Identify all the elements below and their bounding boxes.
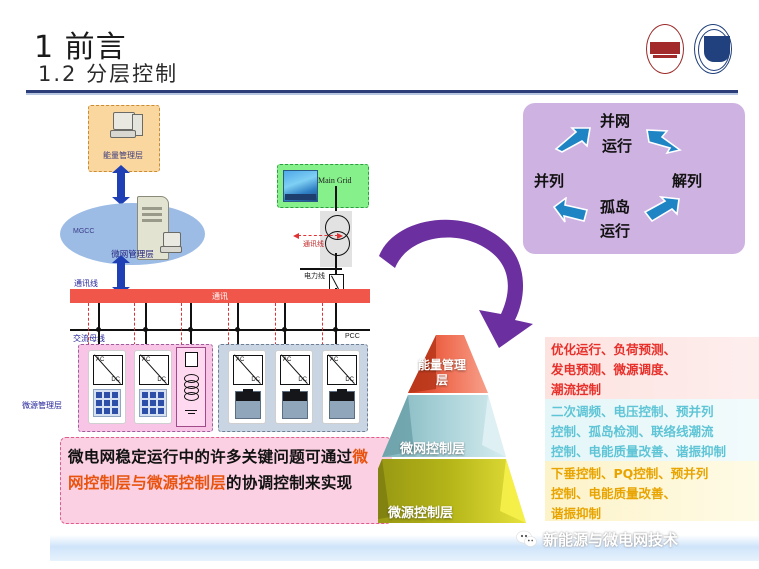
- comm-bus-label: 通讯线: [74, 278, 98, 289]
- bidirectional-arrow-icon-2: [117, 262, 125, 288]
- solar-panel-icon: [139, 389, 167, 417]
- flow-arrow-icon: [375, 210, 555, 350]
- pyramid-level-1-details: 优化运行、负荷预测、 发电预测、微源调度、 潮流控制: [545, 337, 759, 399]
- cycle-island-line2: 运行: [600, 220, 630, 241]
- page-subtitle: 1.2 分层控制: [38, 58, 178, 88]
- converter-dc-label: DC: [157, 377, 166, 383]
- pcc-label: PCC: [345, 333, 360, 340]
- converter-ac-label: AC: [330, 357, 338, 363]
- converter-ac-label: AC: [283, 357, 291, 363]
- acdc-converter-icon: AC DC: [93, 355, 123, 385]
- inductor-icon: [184, 374, 197, 400]
- battery-icon: [329, 391, 355, 419]
- ac-bus-line: [70, 329, 370, 331]
- slide-canvas: 1 前言 1.2 分层控制 能量管理层 MGCC 微网管理层 Main Grid: [0, 0, 759, 569]
- converter-dc-label: DC: [251, 377, 260, 383]
- converter-dc-label: DC: [345, 377, 354, 383]
- detail-line: 谐振抑制: [551, 504, 753, 524]
- callout-line-2-post: 的协调: [226, 474, 273, 492]
- watermark: 新能源与微电网技术: [516, 528, 678, 550]
- acdc-converter-icon: AC DC: [139, 355, 169, 385]
- ac-bus-label: 交流母线: [73, 333, 105, 344]
- storage-unit: AC DC: [228, 350, 266, 424]
- cycle-arrow-up-right-icon: [554, 127, 592, 153]
- detail-line: 控制、电能质量改善、: [551, 484, 753, 504]
- converter-ac-label: AC: [142, 357, 150, 363]
- detail-line: 二次调频、电压控制、预并列: [551, 402, 753, 422]
- callout-text: 微电网稳定运行中的许多关键问题可通过微网控制层与微源控制层的协调控制来实现: [68, 444, 384, 496]
- mgcc-label: 微网管理层: [60, 248, 205, 260]
- watermark-text: 新能源与微电网技术: [543, 529, 678, 550]
- pyramid-level-1-label: 能量管理层: [414, 358, 470, 388]
- cycle-grid-connected-line1: 并网: [600, 110, 630, 131]
- pyramid-level-2-label: 微网控制层: [400, 438, 465, 457]
- bidirectional-arrow-icon: [117, 172, 125, 198]
- converter-ac-label: AC: [236, 357, 244, 363]
- wechat-icon: [516, 530, 537, 548]
- pyramid-level-3-details: 下垂控制、PQ控制、预并列 控制、电能质量改善、 谐振抑制: [545, 461, 759, 521]
- cycle-island-line1: 孤岛: [600, 196, 630, 217]
- pv-unit: AC DC: [134, 350, 172, 424]
- acdc-converter-icon: AC DC: [233, 355, 263, 385]
- cycle-disconnect: 解列: [672, 170, 702, 191]
- transformer-downlead: [335, 253, 337, 276]
- acdc-converter-icon: AC DC: [280, 355, 310, 385]
- communication-bar-label: 通讯: [70, 291, 370, 302]
- cycle-parallel: 并列: [534, 170, 564, 191]
- storage-unit: AC DC: [275, 350, 313, 424]
- detail-line: 发电预测、微源调度、: [551, 360, 753, 380]
- solar-panel-icon: [93, 389, 121, 417]
- load-switch-icon: [185, 352, 198, 367]
- battery-icon: [235, 391, 261, 419]
- acdc-converter-icon: AC DC: [327, 355, 357, 385]
- cycle-arrow-down-right-icon: [645, 128, 683, 154]
- detail-line: 优化运行、负荷预测、: [551, 340, 753, 360]
- cycle-arrow-up-left-icon: [552, 197, 590, 223]
- main-grid-label: Main Grid: [318, 176, 352, 185]
- detail-line: 下垂控制、PQ控制、预并列: [551, 464, 753, 484]
- pv-unit: AC DC: [88, 350, 126, 424]
- callout-line-1: 微电网稳定运行中的许多关键问题可: [68, 448, 321, 466]
- callout-line-2-pre: 通过: [321, 448, 353, 466]
- university-logo-blue-icon: [692, 22, 736, 78]
- callout-line-3: 控制来实现: [273, 474, 352, 492]
- legend-power-line-icon: [300, 268, 342, 270]
- legend-power-label: 电力线: [304, 271, 325, 281]
- storage-unit: AC DC: [322, 350, 360, 424]
- mgcc-tag: MGCC: [73, 228, 94, 235]
- detail-line: 控制、电能质量改善、谐振抑制: [551, 442, 753, 462]
- pyramid-level-3-label: 微源控制层: [388, 502, 453, 521]
- load-unit: [176, 347, 206, 427]
- legend-comm-line-icon: [298, 235, 338, 236]
- grid-feeder-line: [335, 186, 337, 214]
- cycle-grid-connected-line2: 运行: [602, 135, 632, 156]
- converter-dc-label: DC: [111, 377, 120, 383]
- legend-comm-label: 通讯线: [303, 239, 324, 249]
- micro-source-layer-label: 微源管理层: [22, 400, 62, 411]
- cycle-arrow-down-left-icon: [643, 196, 681, 222]
- university-logo-red-icon: [644, 22, 688, 78]
- converter-ac-label: AC: [96, 357, 104, 363]
- energy-management-label: 能量管理层: [88, 150, 158, 161]
- slide-header: 1 前言 1.2 分层控制: [0, 0, 759, 92]
- grid-photo-icon: [283, 170, 318, 202]
- battery-icon: [282, 391, 308, 419]
- ground-icon: [185, 410, 197, 411]
- converter-dc-label: DC: [298, 377, 307, 383]
- detail-line: 控制、孤岛检测、联络线潮流: [551, 422, 753, 442]
- detail-line: 潮流控制: [551, 380, 753, 400]
- pyramid-level-2-details: 二次调频、电压控制、预并列 控制、孤岛检测、联络线潮流 控制、电能质量改善、谐振…: [545, 399, 759, 461]
